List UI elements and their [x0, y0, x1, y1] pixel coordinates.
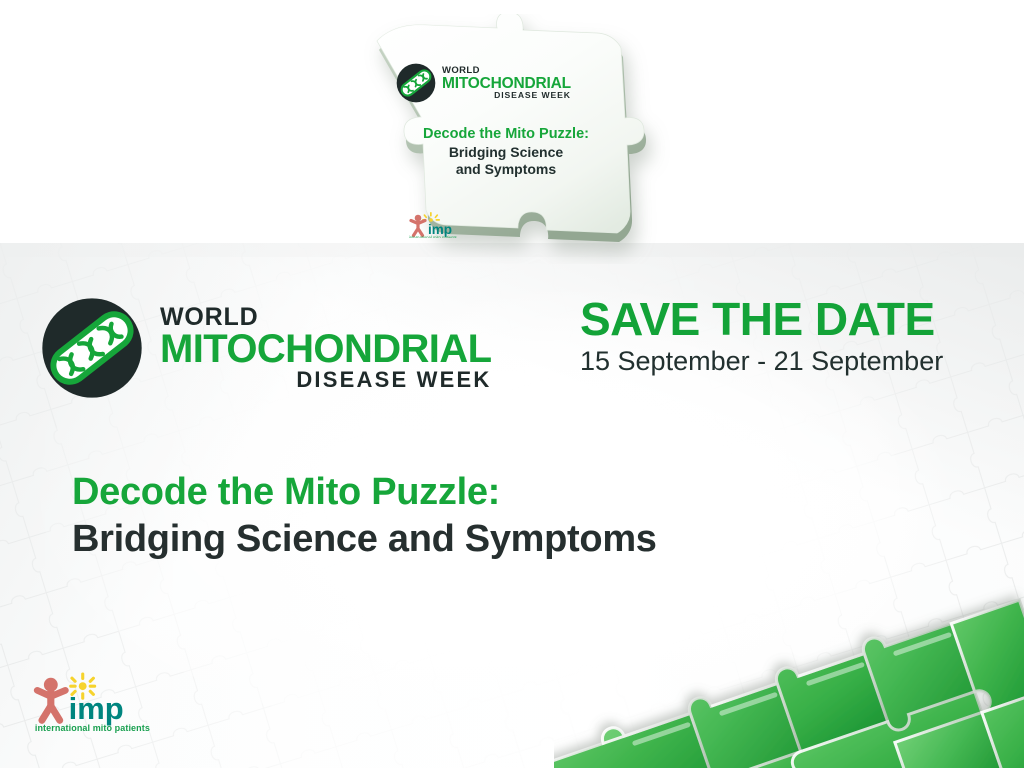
- hero-logo-line3: DISEASE WEEK: [442, 91, 571, 100]
- hero-tagline-line1: Decode the Mito Puzzle:: [381, 126, 631, 144]
- hero-puzzle-piece: WORLD MITOCHONDRIAL DISEASE WEEK Decode …: [333, 14, 673, 264]
- save-the-date-dates: 15 September - 21 September: [580, 347, 990, 377]
- mitochondria-logo-icon: [395, 62, 437, 104]
- hero-logo-line2: MITOCHONDRIAL: [442, 76, 571, 92]
- save-the-date-title: SAVE THE DATE: [580, 296, 990, 342]
- wmdw-main-logo: WORLD MITOCHONDRIAL DISEASE WEEK: [38, 294, 468, 402]
- wmdw-logo-line3: DISEASE WEEK: [160, 369, 491, 391]
- mitochondria-logo-icon: [38, 294, 146, 402]
- headline-line2: Bridging Science and Symptoms: [72, 517, 657, 562]
- headline-block: Decode the Mito Puzzle: Bridging Science…: [72, 470, 657, 562]
- save-the-date-block: SAVE THE DATE 15 September - 21 Septembe…: [580, 296, 990, 377]
- hero-piece-imp-logo-icon: imp international mito patients: [405, 210, 485, 238]
- headline-line1: Decode the Mito Puzzle:: [72, 470, 657, 515]
- person-icon: [37, 678, 65, 721]
- hero-piece-logo: WORLD MITOCHONDRIAL DISEASE WEEK: [395, 62, 580, 104]
- imp-tagline: international mito patients: [35, 723, 150, 733]
- imp-wordmark: imp: [69, 691, 124, 726]
- svg-text:international mito patients: international mito patients: [409, 235, 457, 238]
- hero-piece-tagline: Decode the Mito Puzzle: Bridging Science…: [381, 126, 631, 178]
- green-puzzle-pieces-decoration-icon: [554, 538, 1024, 768]
- poster-canvas: WORLD MITOCHONDRIAL DISEASE WEEK Decode …: [0, 0, 1024, 768]
- hero-tagline-line3: and Symptoms: [381, 161, 631, 178]
- imp-logo: imp international mito patients: [33, 672, 183, 734]
- wmdw-logo-line2: MITOCHONDRIAL: [160, 329, 491, 369]
- hero-tagline-line2: Bridging Science: [381, 144, 631, 161]
